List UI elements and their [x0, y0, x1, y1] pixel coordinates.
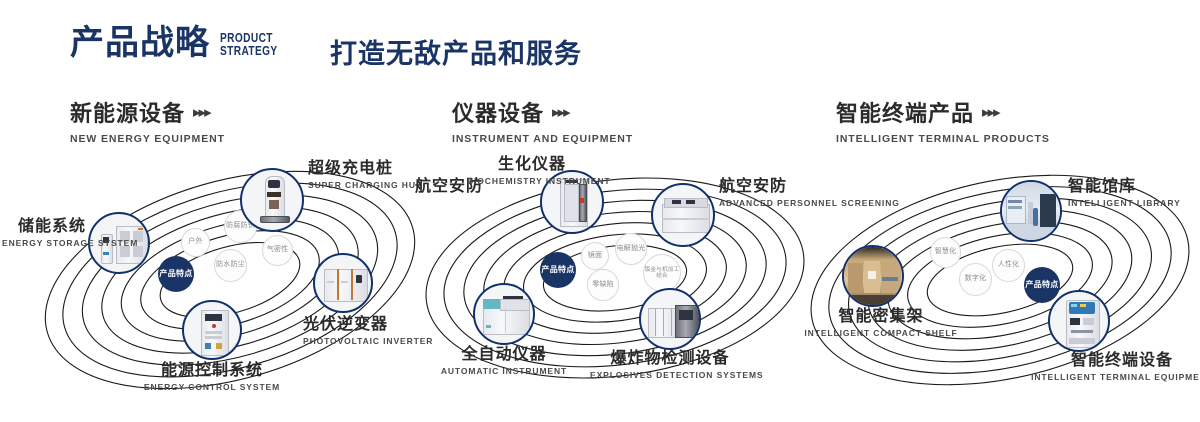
- chevrons-right-icon: ▸▸▸: [552, 103, 569, 121]
- core-bubble-label: 产品特点: [1025, 280, 1058, 290]
- section-title-cn: 智能终端产品 ▸▸▸: [836, 96, 1050, 128]
- caption-cn: 超级充电桩: [308, 160, 423, 178]
- feature-bubble-4: 气密性: [262, 235, 293, 266]
- section-title-cn: 新能源设备 ▸▸▸: [70, 96, 225, 128]
- node-advanced-personnel-screening[interactable]: [651, 183, 715, 247]
- node-intelligent-library[interactable]: [1000, 180, 1062, 242]
- self-service-kiosk-icon: [1050, 292, 1108, 350]
- feature-bubble-label: 钣金与机加工结合: [644, 267, 680, 280]
- node-automatic-instrument[interactable]: [473, 283, 535, 345]
- caption-en: INTELLIGENT LIBRARY: [1068, 198, 1181, 209]
- caption-cn: 智能馆库: [1068, 178, 1181, 196]
- photovoltaic-inverter-cabinet-icon: [315, 255, 371, 311]
- page-slogan: 打造无敌产品和服务: [330, 32, 582, 71]
- caption-en: EXPLOSIVES DETECTION SYSTEMS: [590, 370, 750, 381]
- caption-cn: 生化仪器: [467, 156, 597, 174]
- section-title-en: NEW ENERGY EQUIPMENT: [70, 133, 225, 145]
- feature-bubble-1: 智慧化: [930, 237, 961, 268]
- explosives-detector-icon: [641, 290, 699, 348]
- section-title-instrument: 仪器设备 ▸▸▸ INSTRUMENT AND EQUIPMENT: [452, 96, 633, 145]
- caption-en: INTELLIGENT COMPACT SHELF: [786, 328, 976, 339]
- node-intelligent-compact-shelf[interactable]: [842, 245, 904, 307]
- section-title-cn: 仪器设备 ▸▸▸: [452, 96, 633, 128]
- caption-cn: 智能密集架: [786, 308, 976, 326]
- caption-en: AUTOMATIC INSTRUMENT: [429, 366, 579, 377]
- section-title-en: INSTRUMENT AND EQUIPMENT: [452, 133, 633, 145]
- cluster-instrument: 产品特点 镜面 电解抛光 零缺陷 钣金与机加工结合 航空安防: [415, 150, 815, 400]
- feature-bubble-label: 电解抛光: [617, 245, 646, 253]
- feature-bubble-label: 人性化: [998, 261, 1020, 269]
- chevrons-right-icon: ▸▸▸: [982, 103, 999, 121]
- caption-cn: 智能终端设备: [1022, 352, 1200, 370]
- page-title: 产品战略: [70, 26, 210, 60]
- cluster-new-energy: 产品特点 户外 防腐防锈 防水防尘 气密性: [30, 150, 430, 400]
- automatic-analyzer-icon: [475, 285, 533, 343]
- section-title-cn-text: 仪器设备: [452, 96, 544, 128]
- feature-bubble-label: 户外: [188, 238, 202, 246]
- feature-bubble-4: 钣金与机加工结合: [643, 254, 681, 292]
- caption-explosives-detection-systems: 爆炸物检测设备 EXPLOSIVES DETECTION SYSTEMS: [590, 350, 750, 381]
- feature-bubble-label: 防水防尘: [216, 261, 245, 269]
- feature-bubble-3: 零缺陷: [587, 269, 619, 301]
- feature-bubble-label: 数字化: [965, 275, 987, 283]
- caption-en: BIOCHEMISTRY INSTRUMENT: [467, 176, 597, 187]
- core-bubble: 产品特点: [540, 252, 576, 288]
- feature-bubble-label: 气密性: [267, 246, 289, 254]
- node-super-charging-hub[interactable]: [240, 168, 304, 232]
- cluster-intelligent-terminal: 智慧化 数字化 人性化 产品特点 智能馆库 INTELLIGENT LIB: [800, 150, 1200, 400]
- core-bubble-label: 产品特点: [159, 269, 192, 279]
- section-title-intelligent-terminal: 智能终端产品 ▸▸▸ INTELLIGENT TERMINAL PRODUCTS: [836, 96, 1050, 145]
- chevrons-right-icon: ▸▸▸: [193, 103, 210, 121]
- feature-bubble-1: 镜面: [581, 242, 609, 270]
- section-title-en: INTELLIGENT TERMINAL PRODUCTS: [836, 133, 1050, 145]
- smart-library-room-icon: [1002, 182, 1060, 240]
- feature-bubble-2: 电解抛光: [615, 233, 647, 265]
- node-explosives-detection-systems[interactable]: [639, 288, 701, 350]
- core-bubble-label: 产品特点: [541, 265, 574, 275]
- section-title-cn-text: 智能终端产品: [836, 96, 974, 128]
- energy-control-rack-icon: [184, 302, 240, 358]
- feature-bubble-label: 镜面: [588, 252, 602, 260]
- caption-photovoltaic-inverter: 光伏逆变器 PHOTOVOLTAIC INVERTER: [303, 316, 433, 347]
- caption-energy-storage-system: 储能系统 ENERGY STORAGE SYSTEM: [2, 218, 86, 249]
- caption-en: ENERGY CONTROL SYSTEM: [122, 382, 302, 393]
- feature-bubble-3: 防水防尘: [214, 249, 247, 282]
- section-title-cn-text: 新能源设备: [70, 96, 185, 128]
- caption-cn: 光伏逆变器: [303, 316, 433, 334]
- caption-cn: 储能系统: [2, 218, 86, 236]
- caption-en: PHOTOVOLTAIC INVERTER: [303, 336, 433, 347]
- caption-intelligent-library: 智能馆库 INTELLIGENT LIBRARY: [1068, 178, 1181, 209]
- caption-en: INTELLIGENT TERMINAL EQUIPMENT: [1022, 372, 1200, 383]
- page-title-english: PRODUCT STRATEGY: [220, 32, 278, 60]
- node-intelligent-terminal-equipment[interactable]: [1048, 290, 1110, 352]
- caption-energy-control-system: 能源控制系统 ENERGY CONTROL SYSTEM: [122, 362, 302, 393]
- caption-intelligent-terminal-equipment: 智能终端设备 INTELLIGENT TERMINAL EQUIPMENT: [1022, 352, 1200, 383]
- caption-cn: 爆炸物检测设备: [590, 350, 750, 368]
- section-title-new-energy: 新能源设备 ▸▸▸ NEW ENERGY EQUIPMENT: [70, 96, 225, 145]
- caption-intelligent-compact-shelf: 智能密集架 INTELLIGENT COMPACT SHELF: [786, 308, 976, 339]
- page-header: 产品战略 PRODUCT STRATEGY: [70, 26, 294, 60]
- caption-cn: 能源控制系统: [122, 362, 302, 380]
- screening-machine-icon: [653, 185, 713, 245]
- feature-bubble-3: 人性化: [992, 249, 1025, 282]
- feature-bubble-2: 数字化: [959, 263, 992, 296]
- caption-biochemistry-instrument: 生化仪器 BIOCHEMISTRY INSTRUMENT: [467, 156, 597, 187]
- feature-bubble-label: 零缺陷: [592, 281, 614, 289]
- compact-mobile-shelving-icon: [844, 247, 902, 305]
- caption-cn: 全自动仪器: [429, 346, 579, 364]
- feature-bubble-label: 智慧化: [935, 248, 957, 256]
- node-photovoltaic-inverter[interactable]: [313, 253, 373, 313]
- caption-automatic-instrument: 全自动仪器 AUTOMATIC INSTRUMENT: [429, 346, 579, 377]
- node-energy-control-system[interactable]: [182, 300, 242, 360]
- core-bubble: 产品特点: [158, 256, 194, 292]
- ev-charging-pile-icon: [242, 170, 302, 230]
- caption-en: ENERGY STORAGE SYSTEM: [2, 238, 86, 249]
- product-strategy-infographic: 产品战略 PRODUCT STRATEGY 打造无敌产品和服务 新能源设备 ▸▸…: [0, 0, 1200, 422]
- feature-bubble-1: 户外: [181, 228, 210, 257]
- page-title-english-line2: STRATEGY: [220, 45, 278, 57]
